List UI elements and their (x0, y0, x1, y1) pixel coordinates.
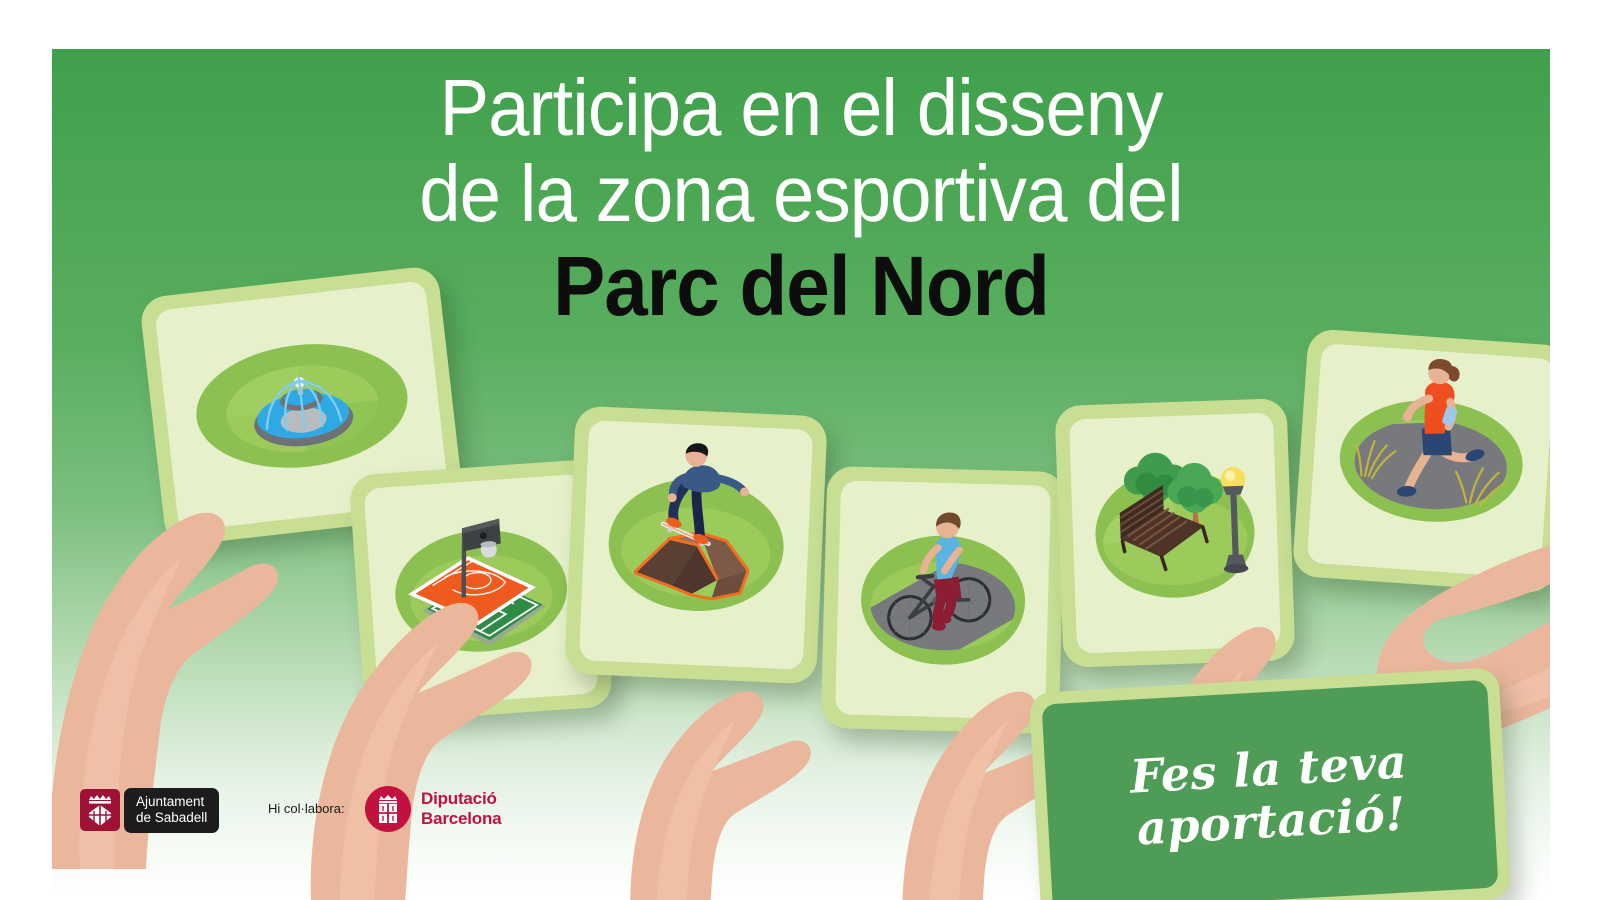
card-inner (835, 480, 1051, 719)
logo-diputacio-barcelona[interactable]: Diputació Barcelona (365, 786, 501, 832)
option-card-running-path[interactable] (1292, 328, 1550, 594)
footer-logos: Ajuntament de Sabadell Hi col·labora: Di… (0, 788, 1600, 848)
option-card-bike-path[interactable] (821, 466, 1066, 734)
card-inner (364, 474, 599, 709)
banner-root: Participa en el disseny de la zona espor… (0, 0, 1600, 900)
option-card-park-furniture[interactable] (1054, 398, 1295, 668)
sabadell-crest-icon (80, 789, 120, 831)
park-bench-icon (1069, 413, 1281, 654)
diputacio-crest-icon (365, 786, 411, 832)
card-inner (579, 420, 813, 670)
sabadell-name: Ajuntament de Sabadell (124, 788, 219, 833)
headline-line-1: Participa en el disseny (104, 68, 1497, 148)
option-card-skate-ramp[interactable] (564, 406, 827, 685)
logo-ajuntament-sabadell[interactable]: Ajuntament de Sabadell (80, 788, 219, 833)
headline-line-2: de la zona esportiva del (104, 154, 1497, 234)
sports-court-icon (364, 474, 599, 709)
collaborator-label: Hi col·labora: (268, 801, 345, 816)
cyclist-icon (835, 480, 1051, 719)
runner-icon (1307, 343, 1550, 579)
card-inner (1069, 413, 1281, 654)
diputacio-name: Diputació Barcelona (421, 789, 501, 829)
skate-ramp-icon (579, 420, 813, 670)
cta-card[interactable]: Fes la teva aportació! (1029, 667, 1511, 900)
card-inner (1307, 343, 1550, 579)
